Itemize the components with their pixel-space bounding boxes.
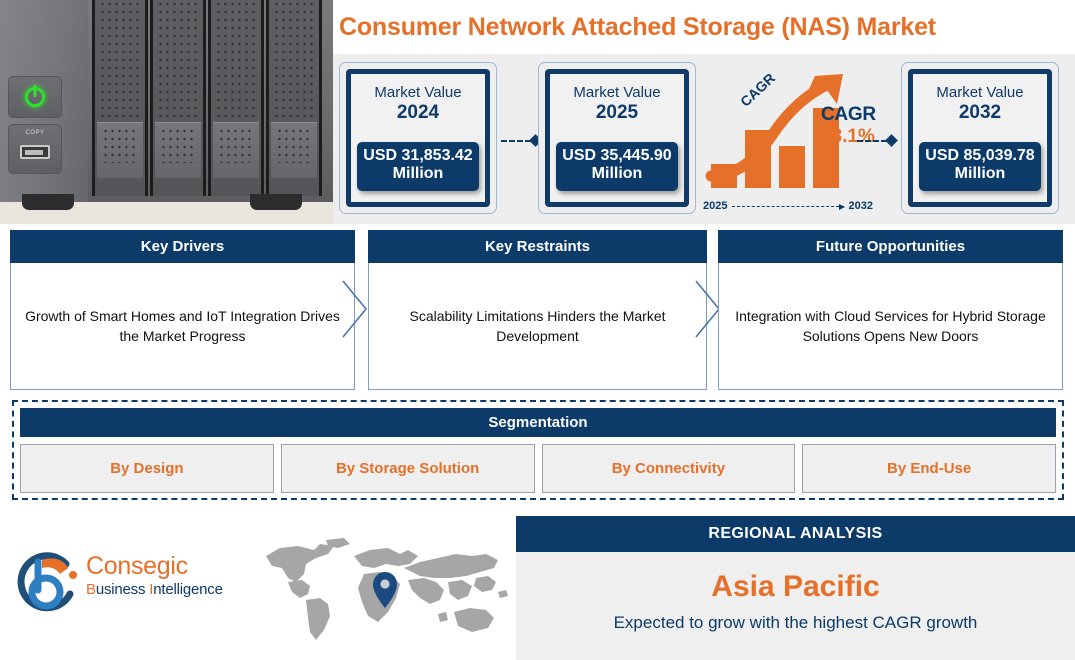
market-value-card-2025: Market Value 2025 USD 35,445.90 Million <box>538 62 696 214</box>
bay-handle <box>213 122 259 178</box>
segment-by-end-use[interactable]: By End-Use <box>802 444 1056 493</box>
title-bar: Consumer Network Attached Storage (NAS) … <box>333 0 1075 54</box>
world-map <box>258 534 513 646</box>
segmentation-section: Segmentation By Design By Storage Soluti… <box>12 400 1064 500</box>
logo-tagline: Business Intelligence <box>86 579 223 602</box>
diamond-marker <box>885 134 898 147</box>
page-title: Consumer Network Attached Storage (NAS) … <box>333 13 936 42</box>
segment-by-design[interactable]: By Design <box>20 444 274 493</box>
panel-key-drivers: Key Drivers Growth of Smart Homes and Io… <box>10 230 355 390</box>
segmentation-row: By Design By Storage Solution By Connect… <box>20 444 1056 493</box>
market-value-chip: USD 35,445.90 Million <box>556 142 678 191</box>
market-value-unit: Million <box>558 165 676 183</box>
consegic-logo-icon <box>14 548 82 616</box>
market-value-unit: Million <box>359 165 477 183</box>
nas-device-photo: COPY <box>0 0 333 224</box>
market-value-inner: Market Value 2024 USD 31,853.42 Million <box>346 69 490 207</box>
regional-analysis-title: REGIONAL ANALYSIS <box>516 516 1075 552</box>
connector-2024-2025 <box>501 136 543 146</box>
market-value-amount: USD 31,853.42 <box>363 147 472 164</box>
world-map-icon <box>258 534 513 646</box>
cagr-year-axis: 2025 2032 <box>703 198 873 214</box>
panel-text: Scalability Limitations Hinders the Mark… <box>368 263 707 390</box>
market-value-amount: USD 35,445.90 <box>562 147 671 164</box>
market-value-label: Market Value <box>374 84 461 101</box>
logo-wordmark: Consegic Business Intelligence <box>86 554 223 602</box>
nas-foot <box>250 194 302 210</box>
drive-bay <box>92 0 148 196</box>
dashed-line <box>501 140 531 142</box>
bottom-strip: Consegic Business Intelligence <box>0 516 1075 660</box>
bay-handle <box>97 122 143 178</box>
market-value-year: 2024 <box>397 101 439 126</box>
market-value-year: 2025 <box>596 101 638 126</box>
copy-label: COPY <box>9 130 61 136</box>
panel-title: Key Drivers <box>10 230 355 263</box>
header-area: Consumer Network Attached Storage (NAS) … <box>333 0 1075 224</box>
panel-title: Key Restraints <box>368 230 707 263</box>
panel-text: Integration with Cloud Services for Hybr… <box>718 263 1063 390</box>
cagr-start-year: 2025 <box>703 200 727 212</box>
market-value-label: Market Value <box>573 84 660 101</box>
market-value-chip: USD 85,039.78 Million <box>919 142 1041 191</box>
power-button <box>8 76 62 118</box>
bay-handle <box>271 122 317 178</box>
power-icon <box>25 87 45 107</box>
nas-foot <box>22 194 74 210</box>
logo-tagline-intelligence: ntelligence <box>153 581 223 598</box>
company-logo: Consegic Business Intelligence <box>14 544 249 622</box>
logo-tagline-b: B <box>86 581 96 598</box>
bay-handle <box>155 122 201 178</box>
cagr-end-year: 2032 <box>849 200 873 212</box>
market-value-chip: USD 31,853.42 Million <box>357 142 479 191</box>
panel-title: Future Opportunities <box>718 230 1063 263</box>
panel-future-opportunities: Future Opportunities Integration with Cl… <box>718 230 1063 390</box>
market-value-inner: Market Value 2032 USD 85,039.78 Million <box>908 69 1052 207</box>
cagr-label: CAGR <box>821 104 876 126</box>
connector-cagr-2032 <box>857 136 899 146</box>
segment-by-connectivity[interactable]: By Connectivity <box>542 444 796 493</box>
logo-tagline-business: usiness <box>96 581 149 598</box>
market-value-card-2032: Market Value 2032 USD 85,039.78 Million <box>901 62 1059 214</box>
panel-key-restraints: Key Restraints Scalability Limitations H… <box>368 230 707 390</box>
regional-analysis-card: REGIONAL ANALYSIS Asia Pacific Expected … <box>516 516 1075 660</box>
market-value-label: Market Value <box>936 84 1023 101</box>
axis-arrow-icon <box>732 206 843 207</box>
top-strip: COPY Consumer Network Attached Storage (… <box>0 0 1075 224</box>
segment-by-storage-solution[interactable]: By Storage Solution <box>281 444 535 493</box>
regional-analysis-region: Asia Pacific <box>711 570 879 603</box>
segmentation-title: Segmentation <box>20 408 1056 437</box>
market-value-inner: Market Value 2025 USD 35,445.90 Million <box>545 69 689 207</box>
regional-analysis-body: Asia Pacific Expected to grow with the h… <box>516 552 1075 660</box>
chevron-divider-1 <box>342 280 368 338</box>
market-value-amount: USD 85,039.78 <box>925 147 1034 164</box>
market-value-card-2024: Market Value 2024 USD 31,853.42 Million <box>339 62 497 214</box>
usb-port-icon <box>20 145 50 159</box>
drive-bay <box>266 0 322 196</box>
market-value-year: 2032 <box>959 101 1001 126</box>
logo-name: Consegic <box>86 554 223 579</box>
market-value-unit: Million <box>921 165 1039 183</box>
drive-bay <box>150 0 206 196</box>
copy-usb-panel: COPY <box>8 124 62 174</box>
panel-text: Growth of Smart Homes and IoT Integratio… <box>10 263 355 390</box>
drive-bay <box>208 0 264 196</box>
dashed-line <box>857 140 887 142</box>
infographic-page: COPY Consumer Network Attached Storage (… <box>0 0 1075 660</box>
chevron-right-icon <box>342 280 368 338</box>
regional-analysis-note: Expected to grow with the highest CAGR g… <box>614 613 978 633</box>
insight-panels: Key Drivers Growth of Smart Homes and Io… <box>0 230 1075 390</box>
